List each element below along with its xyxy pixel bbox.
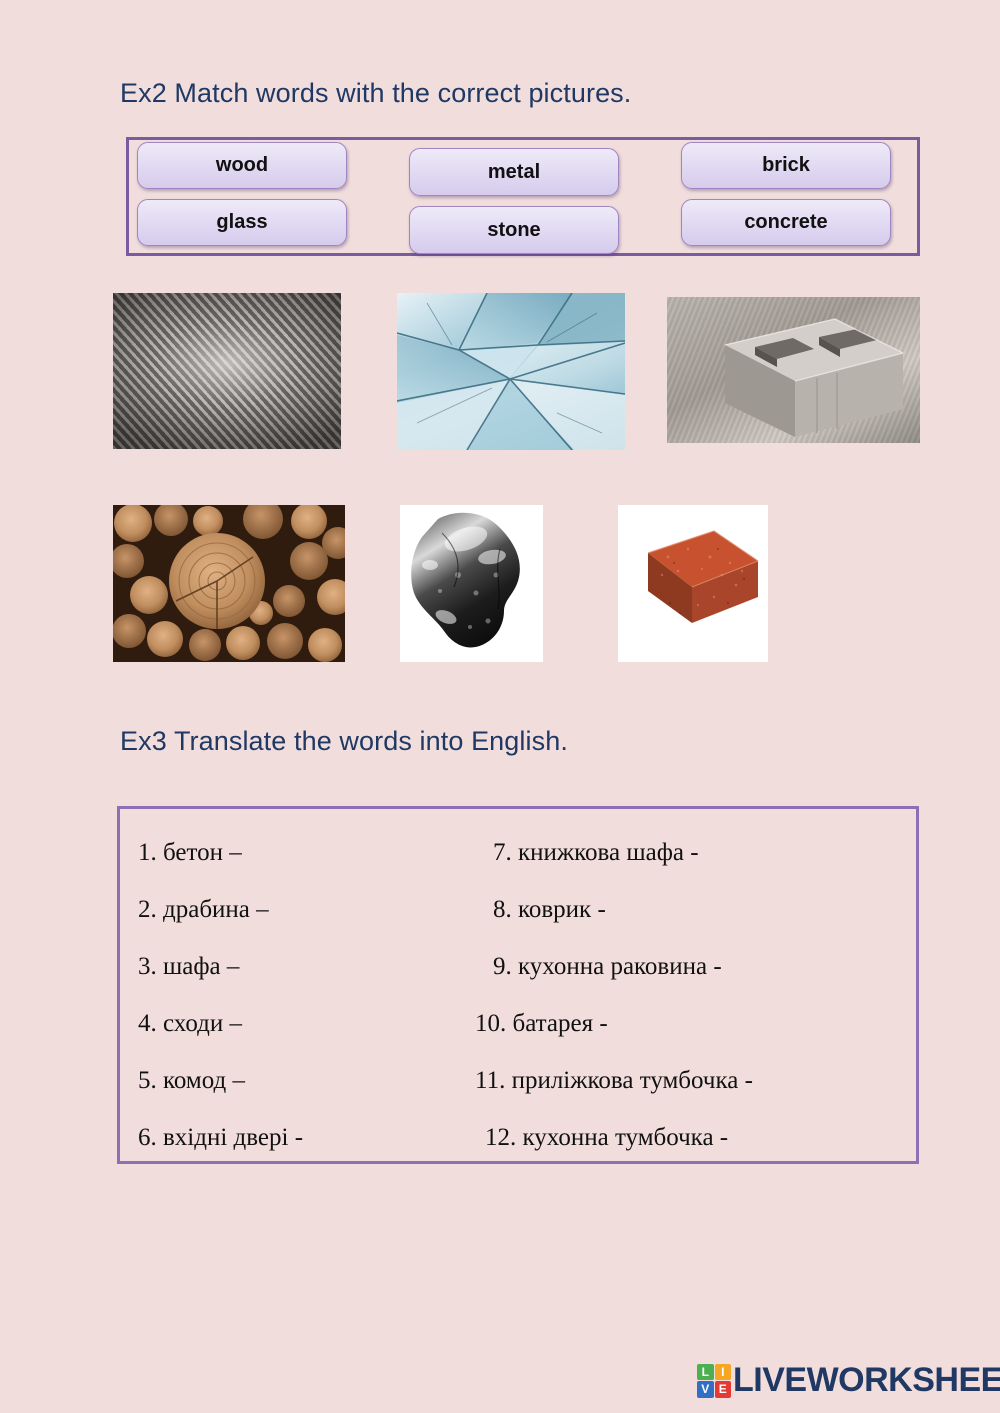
badge-letter-e: E [715,1381,732,1398]
translate-item-9: 9. кухонна раковина - [475,943,905,1000]
brick-photo [618,505,768,662]
translate-item-8: 8. коврик - [475,886,905,943]
broken-glass-image[interactable] [397,293,625,450]
translation-column-left: 1. бетон – 2. драбина – 3. шафа – 4. схо… [138,829,478,1171]
word-bank-column-1: wood glass [137,142,347,256]
badge-letter-v: V [697,1381,714,1398]
translate-item-6: 6. вхідні двері - [138,1114,478,1171]
word-bank-column-3: brick concrete [681,142,891,256]
wood-logs-svg [113,505,345,662]
liveworksheets-logo[interactable]: L I V E LIVEWORKSHEETS [697,1361,1000,1400]
wood-logs-image[interactable] [113,505,345,662]
ex3-heading: Ex3 Translate the words into English. [120,726,568,757]
word-chip-wood[interactable]: wood [137,142,347,189]
live-badge-icon: L I V E [697,1364,731,1398]
word-chip-glass[interactable]: glass [137,199,347,246]
glass-texture [397,293,625,450]
logo-wordmark: LIVEWORKSHEETS [733,1361,1000,1400]
word-chip-brick[interactable]: brick [681,142,891,189]
translate-item-1: 1. бетон – [138,829,478,886]
brick-image[interactable] [618,505,768,662]
word-chip-metal[interactable]: metal [409,148,619,196]
concrete-block-image[interactable] [667,297,920,443]
badge-letter-l: L [697,1364,714,1381]
translate-item-5: 5. комод – [138,1057,478,1114]
word-bank-column-2: metal stone [409,148,619,264]
badge-letter-i: I [715,1364,732,1381]
translate-item-12: 12. кухонна тумбочка - [475,1114,905,1171]
word-bank-container: wood glass metal stone brick concrete [126,137,920,256]
translate-item-3: 3. шафа – [138,943,478,1000]
metal-plate-image[interactable] [113,293,341,449]
translate-item-2: 2. драбина – [138,886,478,943]
translate-item-10: 10. батарея - [475,1000,905,1057]
brick-svg [618,505,768,662]
glass-shards-svg [397,293,625,450]
metal-texture [113,293,341,449]
stone-image[interactable] [400,505,543,662]
translation-box: 1. бетон – 2. драбина – 3. шафа – 4. схо… [117,806,919,1164]
stone-svg [400,505,543,662]
ex2-heading: Ex2 Match words with the correct picture… [120,78,631,109]
concrete-texture [667,297,920,443]
wood-texture [113,505,345,662]
stone-photo [400,505,543,662]
concrete-block-svg [667,297,920,443]
word-chip-concrete[interactable]: concrete [681,199,891,246]
word-chip-stone[interactable]: stone [409,206,619,254]
translation-column-right: 7. книжкова шафа - 8. коврик - 9. кухонн… [475,829,905,1171]
translate-item-4: 4. сходи – [138,1000,478,1057]
translate-item-11: 11. приліжкова тумбочка - [475,1057,905,1114]
translate-item-7: 7. книжкова шафа - [475,829,905,886]
